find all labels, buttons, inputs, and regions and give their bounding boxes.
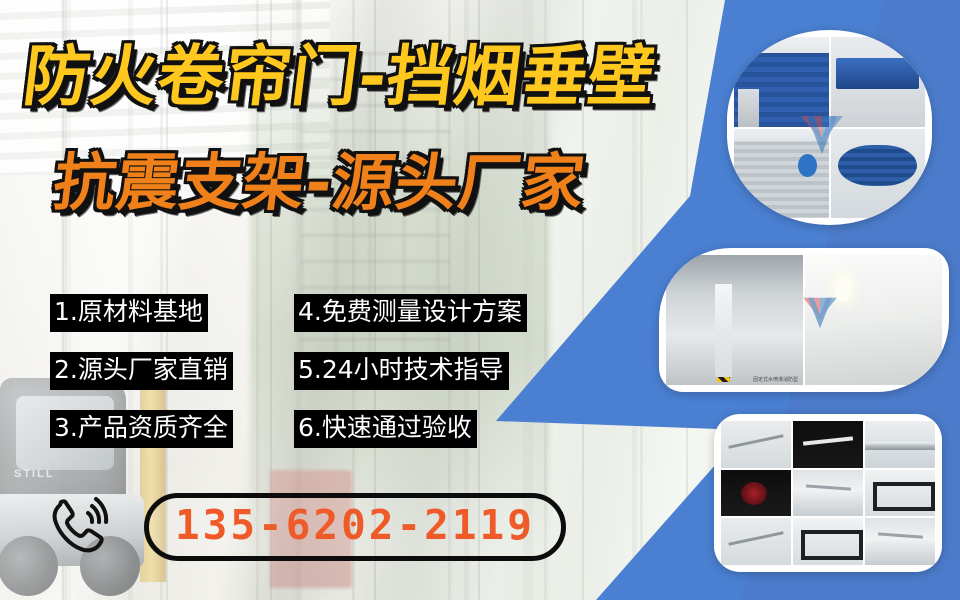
contact-row: 135-6202-2119 (46, 493, 566, 561)
photo-grid (721, 421, 935, 565)
collage-seismic-brackets (714, 414, 942, 572)
phone-number: 135-6202-2119 (175, 500, 535, 550)
photo-ceiling-support-run (865, 518, 935, 565)
photo-ceiling-sprinklers (805, 255, 942, 385)
photo-roll-forming-machine (831, 37, 926, 127)
phone-number-pill[interactable]: 135-6202-2119 (144, 493, 566, 561)
photo-parking-garage-columns: 固定式水喷淋消防型 (666, 255, 803, 385)
photo-grey-rolling-shutter (734, 129, 829, 219)
advertisement-banner: STILL 防火卷帘门-挡烟垂壁 抗震支架-源头厂家 1.原材料基地 4.免费测… (0, 0, 960, 600)
photo-steel-frame-support (865, 470, 935, 517)
photo-seismic-bracket-pipe-run (721, 421, 791, 468)
photo-grid (734, 37, 925, 218)
list-item: 6.快速通过验收 (294, 410, 477, 448)
collage-fire-shutter-doors (727, 30, 932, 225)
phone-ringing-icon (46, 493, 116, 561)
list-item: 4.免费测量设计方案 (294, 294, 527, 332)
collage-parking-garage: 固定式水喷淋消防型 (659, 248, 949, 392)
list-item: 5.24小时技术指导 (294, 352, 509, 390)
feature-list: 1.原材料基地 4.免费测量设计方案 2.源头厂家直销 5.24小时技术指导 3… (50, 294, 570, 468)
photo-blue-fire-shutter-door (734, 37, 829, 127)
photo-red-industrial-fan (721, 470, 791, 517)
photo-shutter-curtain-coil (831, 129, 926, 219)
page-title: 防火卷帘门-挡烟垂壁 (20, 44, 660, 110)
list-item: 2.源头厂家直销 (50, 352, 233, 390)
photo-bracket-clamp-detail (793, 421, 863, 468)
photo-cable-tray-support (721, 518, 791, 565)
photo-grid: 固定式水喷淋消防型 (666, 255, 942, 385)
photo-duct-seismic-bracing (793, 470, 863, 517)
page-subtitle: 抗震支架-源头厂家 (50, 152, 588, 214)
photo-pipe-clamp-hanger (865, 421, 935, 468)
photo-caption: 固定式水喷淋消防型 (753, 376, 798, 383)
list-item: 1.原材料基地 (50, 294, 208, 332)
list-item: 3.产品资质齐全 (50, 410, 233, 448)
photo-warehouse-frame-bracing (793, 518, 863, 565)
